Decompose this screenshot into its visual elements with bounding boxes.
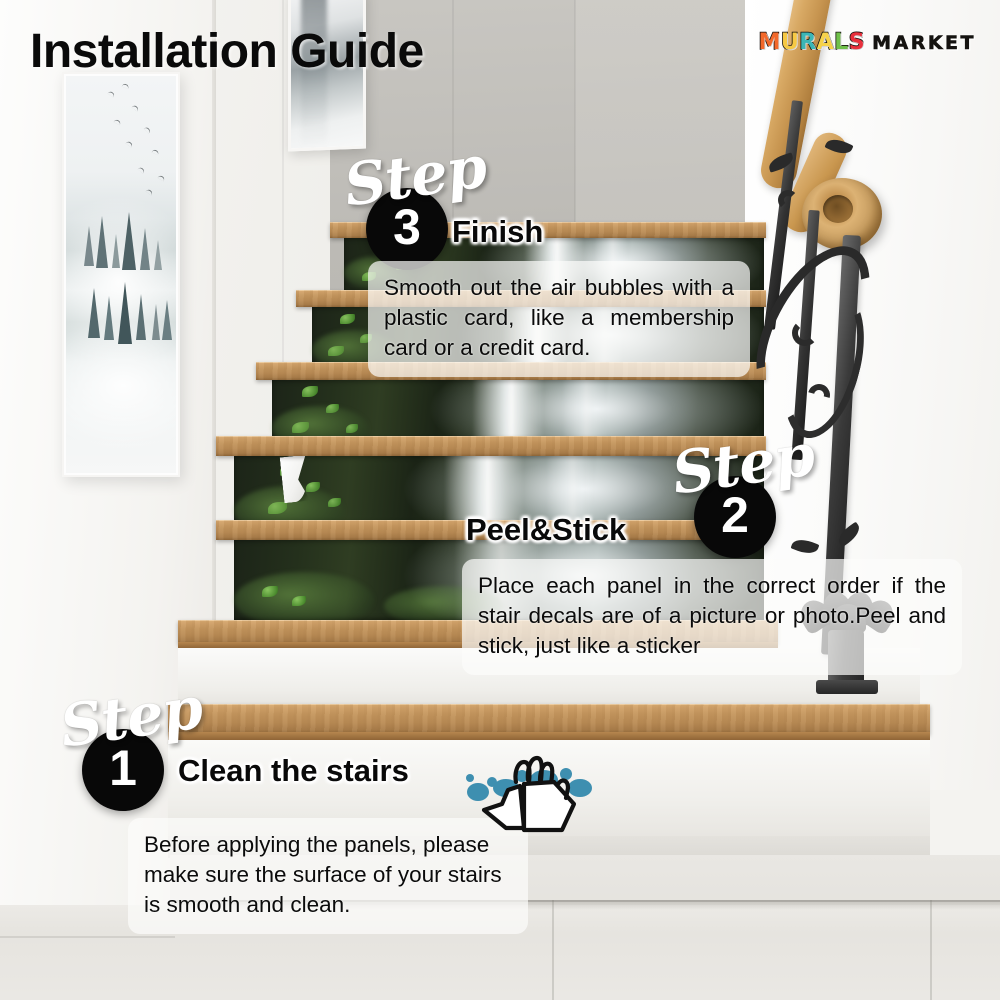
step-badge-2: Step 2 bbox=[664, 430, 834, 550]
logo-letter-m: M bbox=[758, 32, 780, 54]
step-title-clean-the-stairs: Clean the stairs bbox=[178, 753, 409, 789]
iron-curl bbox=[792, 320, 818, 346]
iron-curl bbox=[778, 190, 798, 210]
step-description-box-2: Place each panel in the correct order if… bbox=[462, 559, 962, 675]
logo-letter-u: U bbox=[781, 32, 799, 54]
step-title-peel-stick: Peel&Stick bbox=[466, 512, 626, 548]
page-title: Installation Guide bbox=[30, 24, 424, 79]
installation-guide-image: Installation Guide M U R A L S MARKET St… bbox=[0, 0, 1000, 1000]
step-word-label: Step bbox=[56, 673, 206, 760]
step-description-box-3: Smooth out the air bubbles with a plasti… bbox=[368, 261, 750, 377]
newel-base-plate bbox=[816, 680, 878, 694]
floor-grout-line bbox=[552, 900, 554, 1000]
logo-letter-s: S bbox=[849, 32, 865, 54]
floor-grout-line bbox=[930, 900, 932, 1000]
floor-grout-line bbox=[0, 936, 175, 938]
step-word-label: Step bbox=[668, 420, 818, 507]
step-word-label: Step bbox=[340, 132, 490, 219]
logo-murals-word: M U R A L S bbox=[758, 32, 865, 54]
step-description-2: Place each panel in the correct order if… bbox=[478, 571, 946, 661]
logo-market-word: MARKET bbox=[872, 34, 976, 53]
step-description-3: Smooth out the air bubbles with a plasti… bbox=[384, 273, 734, 363]
hand-wiping-cloth-icon bbox=[462, 748, 594, 840]
step-description-1: Before applying the panels, please make … bbox=[144, 830, 512, 920]
brand-logo[interactable]: M U R A L S MARKET bbox=[758, 32, 976, 54]
logo-letter-l: L bbox=[834, 32, 849, 54]
step-title-finish: Finish bbox=[452, 214, 543, 250]
volute-center bbox=[823, 195, 853, 223]
logo-letter-r: R bbox=[799, 32, 816, 54]
logo-letter-a: A bbox=[817, 32, 835, 54]
